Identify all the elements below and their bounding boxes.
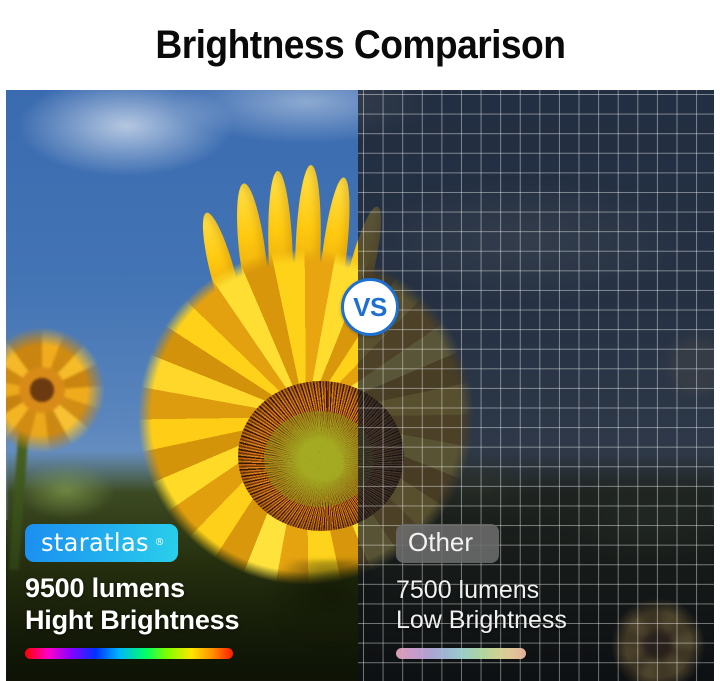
faded-rainbow-bar xyxy=(396,648,526,659)
left-color-bar-wrap xyxy=(25,648,239,659)
left-brightness-label: Hight Brightness xyxy=(25,605,239,636)
other-badge: Other xyxy=(396,524,499,563)
right-color-bar-wrap xyxy=(396,648,567,659)
vs-label: VS xyxy=(353,294,387,320)
right-lumens: 7500 lumens xyxy=(396,575,567,605)
registered-trademark-icon: ® xyxy=(154,538,164,548)
left-caption-block: staratlas ® 9500 lumens Hight Brightness xyxy=(25,524,239,659)
left-sunflower xyxy=(6,325,114,455)
vs-badge: VS xyxy=(341,278,399,336)
brand-name: staratlas xyxy=(41,530,149,555)
other-label: Other xyxy=(408,527,473,557)
title-bar: Brightness Comparison xyxy=(0,0,720,90)
vivid-rainbow-bar xyxy=(25,648,233,659)
brand-logo: staratlas ® xyxy=(25,524,178,562)
right-caption-block: Other 7500 lumens Low Brightness xyxy=(396,524,567,659)
comparison-image: VS staratlas ® 9500 lumens Hight Brightn… xyxy=(6,90,714,681)
page-title: Brightness Comparison xyxy=(155,23,565,68)
right-brightness-label: Low Brightness xyxy=(396,605,567,635)
left-lumens: 9500 lumens xyxy=(25,573,239,604)
